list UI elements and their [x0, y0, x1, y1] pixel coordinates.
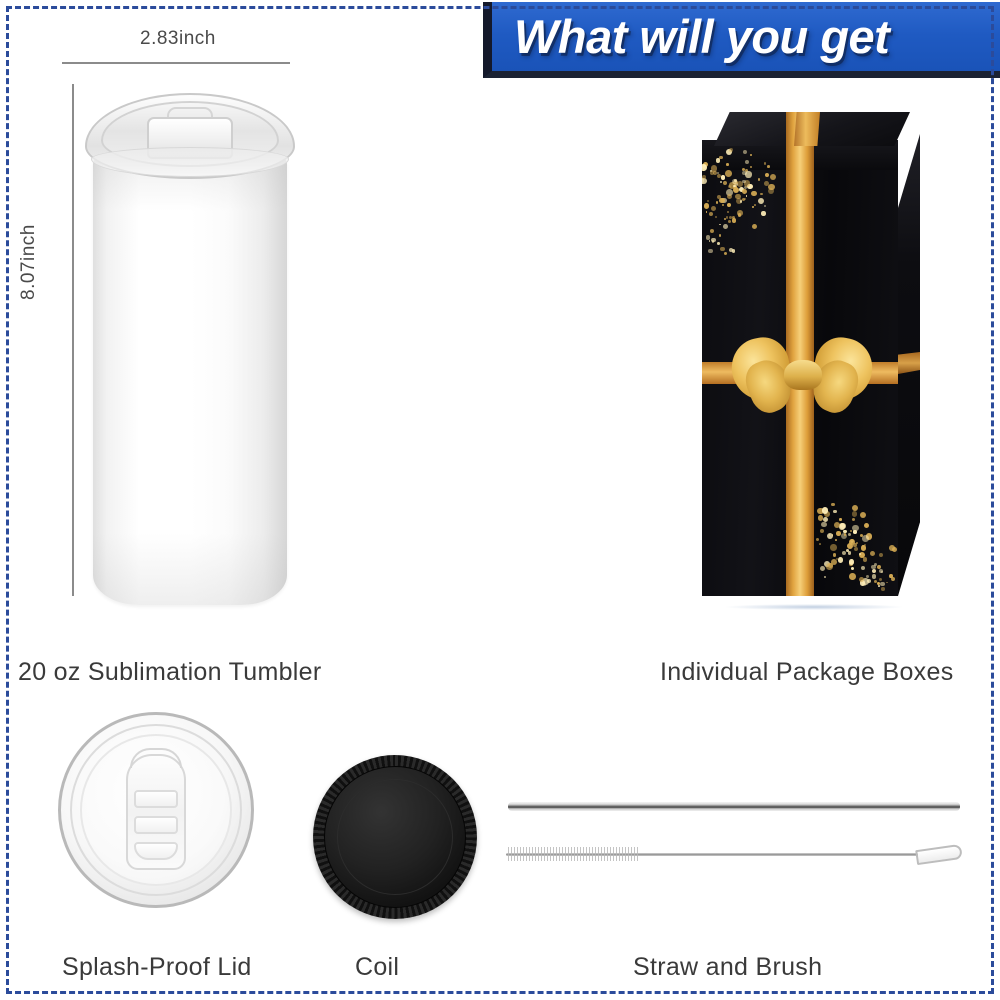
header-banner-title: What will you get: [492, 9, 889, 64]
gift-box-bow: [730, 330, 874, 430]
brush-handle-loop: [915, 844, 963, 865]
gift-box-ribbon-vertical-top: [794, 112, 820, 146]
brush-bristles: [508, 847, 640, 861]
product-image-splash-proof-lid: [58, 712, 254, 908]
product-image-package-box: [702, 112, 920, 602]
coil-inner-groove: [337, 779, 453, 895]
caption-straw-and-brush: Straw and Brush: [633, 953, 822, 982]
lid-slider-slot-2: [134, 816, 178, 834]
header-banner: What will you get: [483, 2, 1000, 78]
lid-slider-slot-3: [134, 842, 178, 860]
infographic-canvas: What will you get 2.83inch 8.07inch: [0, 0, 1000, 1000]
product-image-straw: [508, 800, 960, 812]
product-image-brush: [506, 845, 968, 863]
caption-splash-proof-lid: Splash-Proof Lid: [62, 953, 252, 982]
bow-knot: [784, 360, 822, 390]
product-image-tumbler: [85, 85, 295, 605]
product-image-coil: [313, 755, 477, 919]
dimension-height-label: 8.07inch: [18, 224, 40, 300]
dimension-width-line: [62, 62, 290, 64]
caption-tumbler: 20 oz Sublimation Tumbler: [18, 658, 321, 687]
straw-tube: [508, 802, 960, 811]
gift-box-shadow: [726, 604, 902, 610]
straw-highlight: [510, 800, 957, 802]
dimension-height-line: [72, 84, 74, 596]
lid-slider-slot-1: [134, 790, 178, 808]
caption-package-box: Individual Package Boxes: [660, 658, 954, 687]
tumbler-body-shading: [93, 157, 287, 605]
dimension-width-label: 2.83inch: [140, 28, 216, 50]
caption-coil: Coil: [355, 953, 399, 982]
